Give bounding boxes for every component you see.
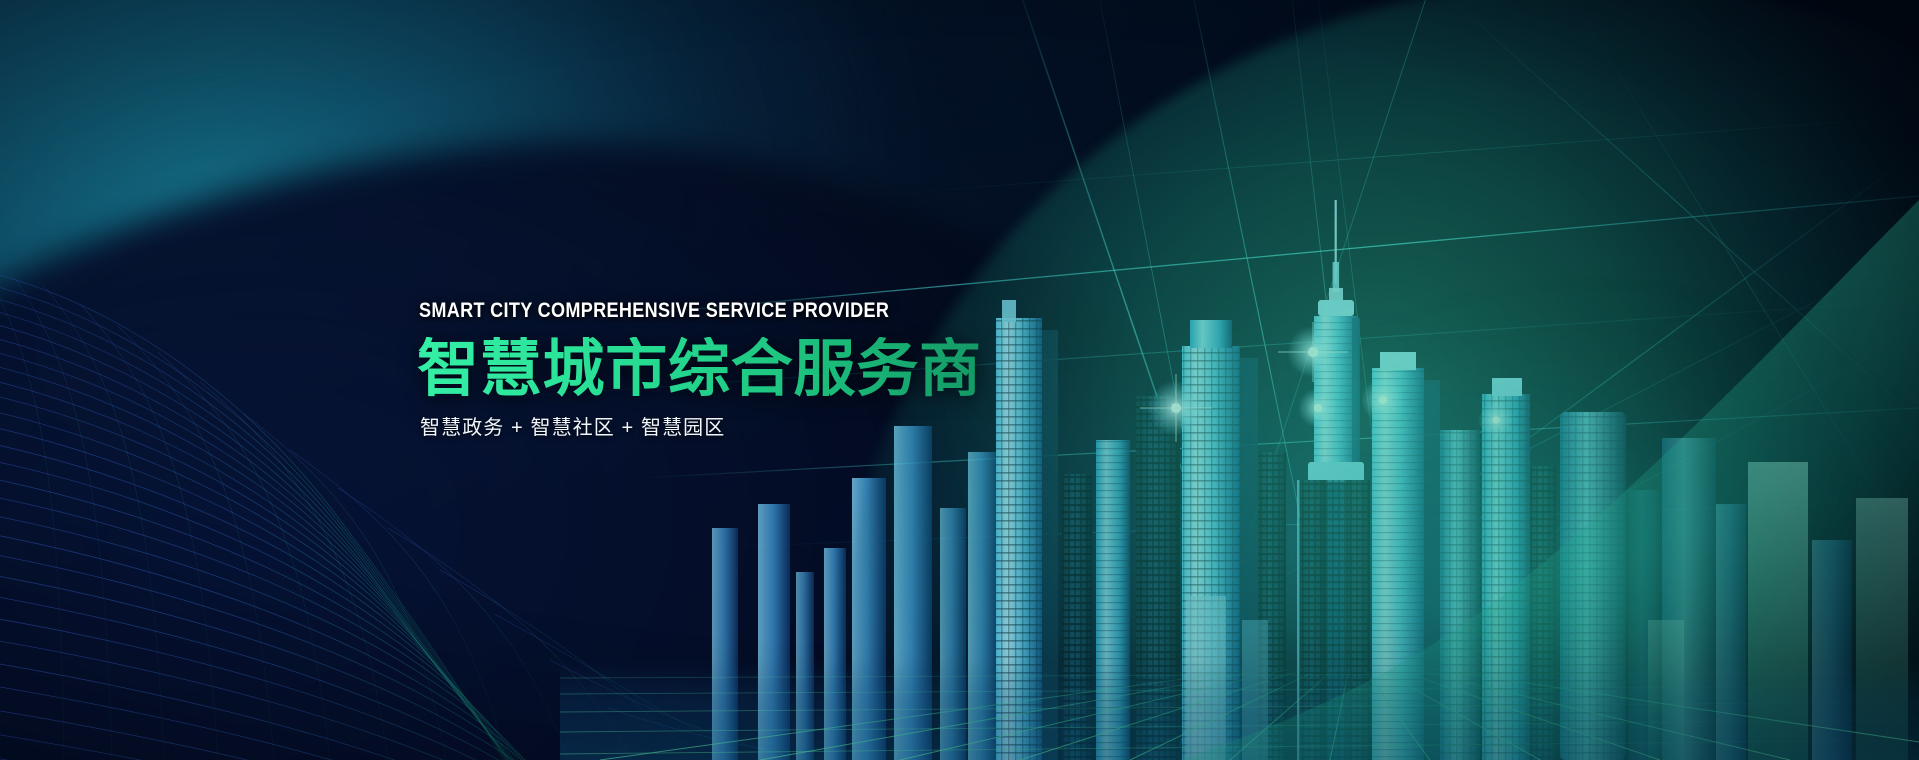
hero-copy-block: SMART CITY COMPREHENSIVE SERVICE PROVIDE… <box>417 300 1177 438</box>
hero-subline-services: 智慧政务 + 智慧社区 + 智慧园区 <box>420 418 1177 438</box>
smart-city-hero-banner: SMART CITY COMPREHENSIVE SERVICE PROVIDE… <box>0 0 1919 760</box>
hero-eyebrow-english: SMART CITY COMPREHENSIVE SERVICE PROVIDE… <box>419 300 1071 321</box>
hero-headline-chinese: 智慧城市综合服务商 <box>417 337 1177 404</box>
